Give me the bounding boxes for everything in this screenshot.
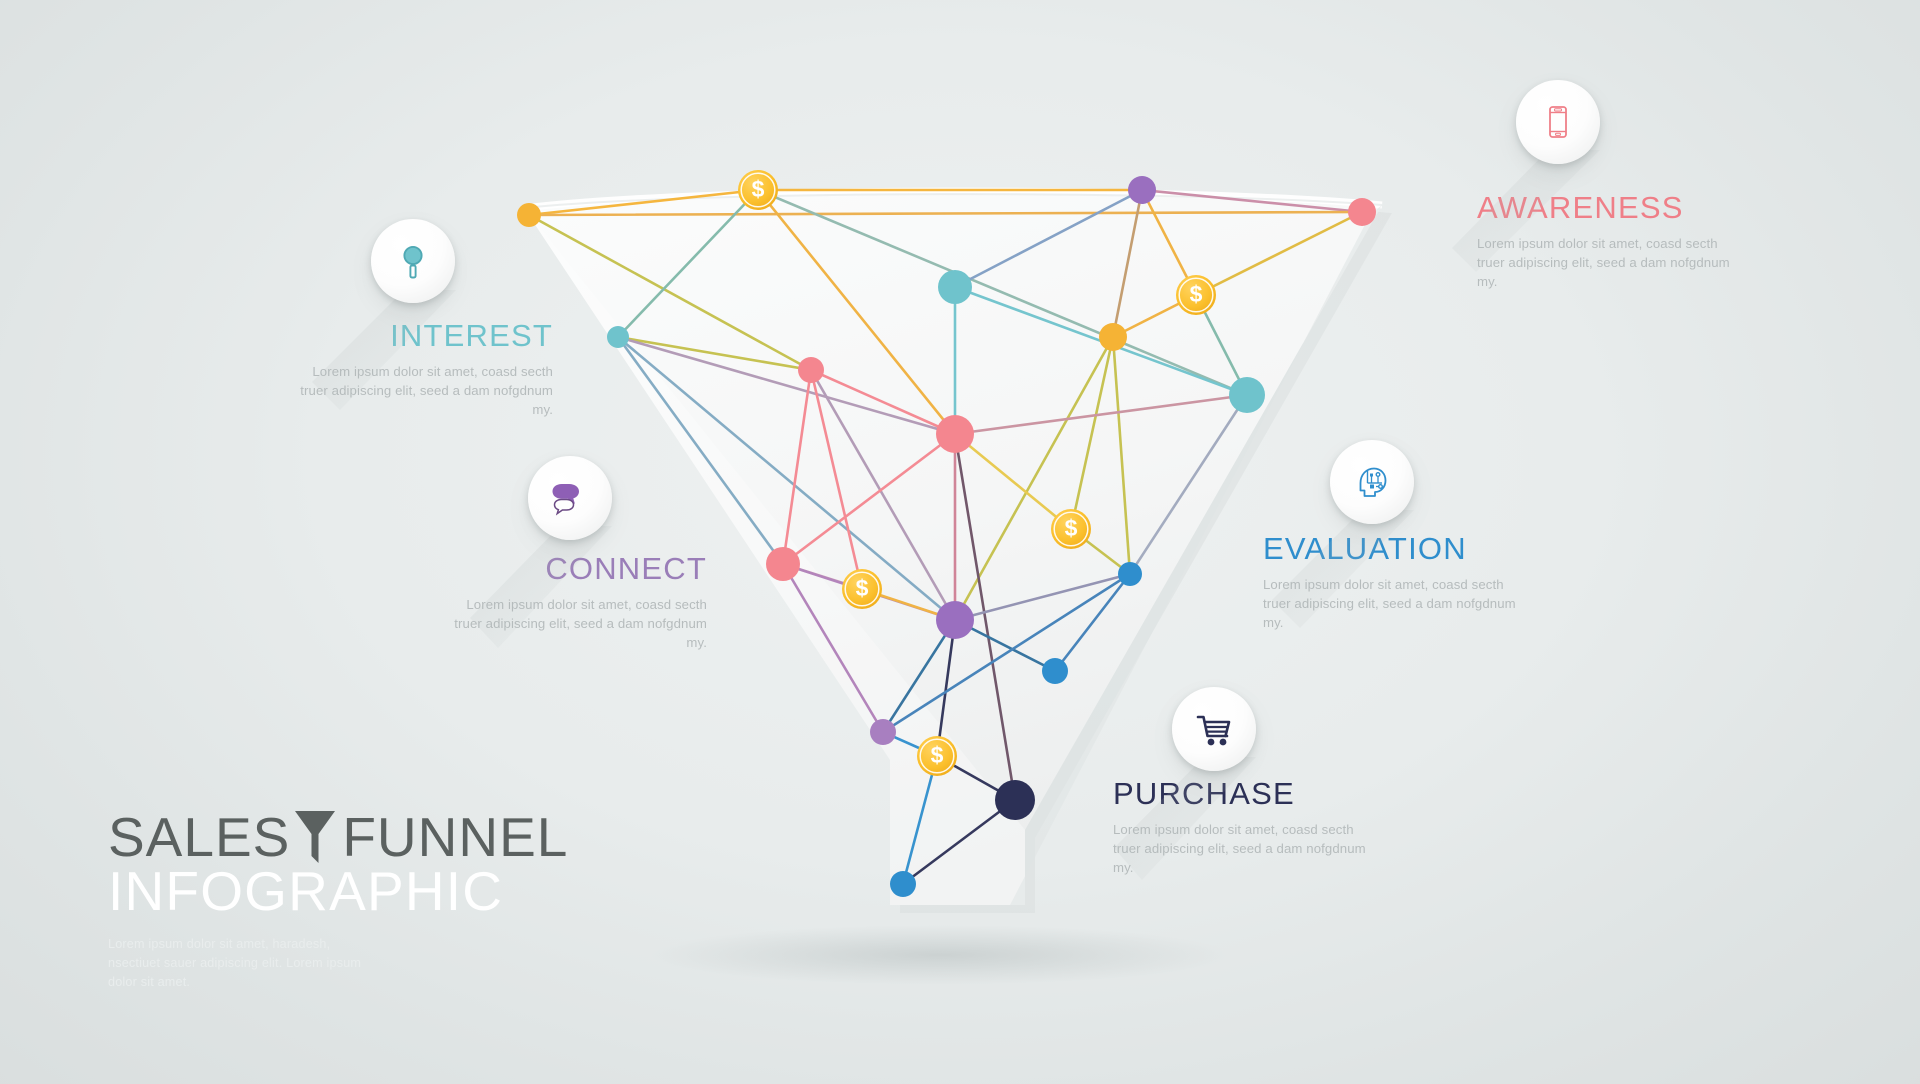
funnel-glyph-icon <box>292 808 338 866</box>
icon-disc-evaluation[interactable] <box>1330 440 1414 524</box>
headline-block: SALES FUNNEL INFOGRAPHIC Lorem ipsum dol… <box>108 806 568 992</box>
headline-word-funnel: FUNNEL <box>342 810 568 865</box>
shopping-cart-icon <box>1192 708 1236 750</box>
headline-word-sales: SALES <box>108 810 290 865</box>
smartphone-icon <box>1538 102 1578 142</box>
magnifier-icon <box>393 240 433 282</box>
icon-disc-awareness[interactable] <box>1516 80 1600 164</box>
headline-description: Lorem ipsum dolor sit amet, haradesh, ns… <box>108 935 363 992</box>
infographic-canvas: $$$$$ <box>0 0 1920 1084</box>
head-circuit-icon <box>1351 461 1393 503</box>
icon-disc-interest[interactable] <box>371 219 455 303</box>
icon-disc-purchase[interactable] <box>1172 687 1256 771</box>
speech-bubbles-icon <box>548 478 592 518</box>
icon-disc-connect[interactable] <box>528 456 612 540</box>
headline-line-infographic: INFOGRAPHIC <box>108 864 568 919</box>
